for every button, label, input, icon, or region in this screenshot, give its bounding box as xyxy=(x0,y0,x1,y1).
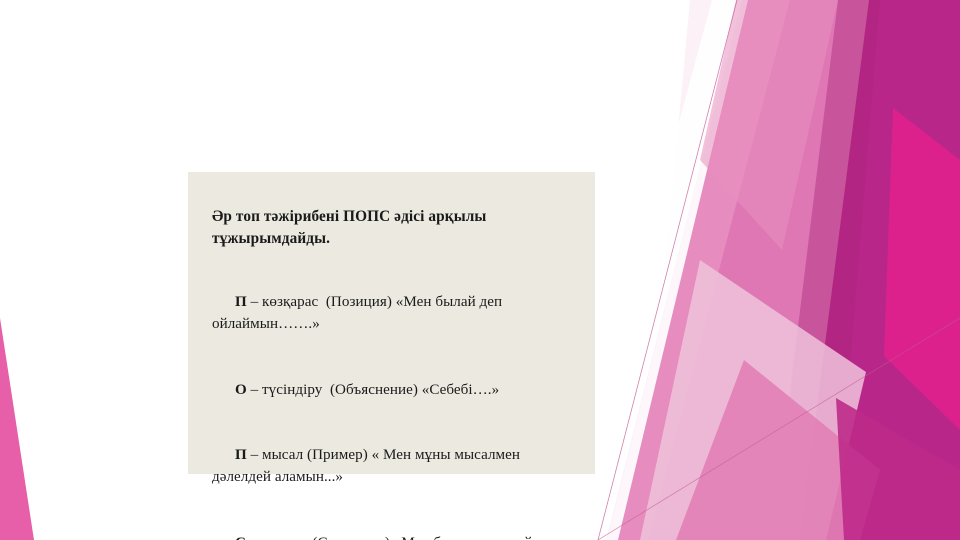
pops-letter-p2: П xyxy=(235,447,247,463)
ribbon-facet-pink-soft-highlight xyxy=(608,0,790,540)
slide-canvas: Әр топ тәжірибені ПОПС әдісі арқылы тұжы… xyxy=(0,0,960,540)
hairline-upper xyxy=(598,0,737,540)
pops-letter-o: О xyxy=(235,382,247,398)
ribbon-facet-bottom-bright xyxy=(836,398,960,540)
pops-line-consequence: С – зерттеу (Следствие) «Мен бұдан мынад… xyxy=(212,511,565,540)
pops-text-consequence: – зерттеу (Следствие) «Мен бұдан мынадай… xyxy=(212,535,536,540)
ribbon-facet-pink-pale-upper xyxy=(700,0,838,250)
ribbon-facet-pink-lower-triangle xyxy=(676,360,880,540)
ribbon-facet-wash xyxy=(640,0,960,540)
content-card: Әр топ тәжірибені ПОПС әдісі арқылы тұжы… xyxy=(188,172,595,474)
wedge-facet-pink-bottom-left xyxy=(0,318,34,540)
ribbon-facet-fold-shadow xyxy=(772,0,880,540)
pops-line-explanation: О – түсіндіру (Объяснение) «Себебі….» xyxy=(212,358,565,424)
pops-line-position: П – көзқарас (Позиция) «Мен былай деп ой… xyxy=(212,270,565,358)
pops-line-example: П – мысал (Пример) « Мен мұны мысалмен д… xyxy=(212,424,565,512)
ribbon-facet-magenta-bright xyxy=(724,0,960,540)
pops-text-position: – көзқарас (Позиция) «Мен былай деп ойла… xyxy=(212,294,506,332)
pops-text-example: – мысал (Пример) « Мен мұны мысалмен дәл… xyxy=(212,447,524,485)
ribbon-facet-magenta-dark-right xyxy=(862,0,960,540)
ribbon-facet-pink-wash-lower xyxy=(640,260,866,540)
hairline-lower xyxy=(598,318,960,540)
ribbon-facet-magenta-accent xyxy=(884,108,960,430)
pops-text-explanation: – түсіндіру (Объяснение) «Себебі….» xyxy=(247,382,499,398)
card-heading: Әр топ тәжірибені ПОПС әдісі арқылы тұжы… xyxy=(212,206,565,249)
ribbon-facet-pink-mid-top xyxy=(606,0,869,540)
pops-letter-s: С xyxy=(235,535,246,540)
pops-letter-p1: П xyxy=(235,294,247,310)
